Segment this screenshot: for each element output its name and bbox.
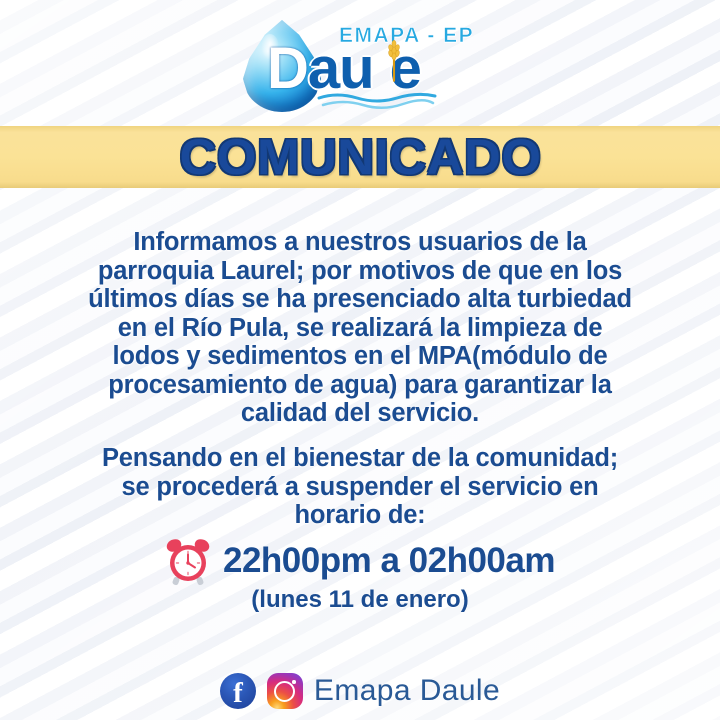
text-line: lodos y sedimentos en el MPA(módulo de — [26, 342, 694, 371]
water-waves-icon — [317, 92, 437, 110]
service-date: (lunes 11 de enero) — [0, 586, 720, 614]
alarm-clock-icon — [165, 536, 211, 586]
comunicado-poster: EMAPA - EP Daue COMUNI — [0, 0, 720, 720]
announcement-paragraph-1: Informamos a nuestros usuarios de laparr… — [26, 228, 694, 428]
text-line: procesamiento de agua) para garantizar l… — [26, 371, 694, 400]
instagram-flash-dot — [292, 680, 296, 684]
text-line: últimos días se ha presenciado alta turb… — [26, 285, 694, 314]
text-line: en el Río Pula, se realizará la limpieza… — [26, 314, 694, 343]
logo-brand-d: D — [267, 36, 308, 101]
announcement-paragraph-2: Pensando en el bienestar de la comunidad… — [26, 444, 694, 530]
service-time-range: 22h00pm a 02h00am — [223, 541, 555, 581]
text-line: Informamos a nuestros usuarios de la — [26, 228, 694, 257]
instagram-lens — [274, 681, 295, 702]
comunicado-banner: COMUNICADO — [0, 126, 720, 188]
instagram-icon[interactable] — [267, 673, 303, 709]
text-line: se procederá a suspender el servicio en — [26, 473, 694, 502]
service-schedule-row: 22h00pm a 02h00am — [0, 536, 720, 586]
social-handle: Emapa Daule — [314, 674, 500, 708]
page-title: COMUNICADO — [179, 128, 541, 186]
emapa-daule-logo: EMAPA - EP Daue — [0, 8, 720, 120]
text-line: horario de: — [26, 501, 694, 530]
social-footer: f Emapa Daule — [0, 668, 720, 714]
text-line: calidad del servicio. — [26, 399, 694, 428]
text-line: Pensando en el bienestar de la comunidad… — [26, 444, 694, 473]
wheat-stalk-icon — [387, 36, 401, 88]
facebook-icon[interactable]: f — [220, 673, 256, 709]
text-line: parroquia Laurel; por motivos de que en … — [26, 257, 694, 286]
facebook-glyph: f — [233, 678, 243, 708]
